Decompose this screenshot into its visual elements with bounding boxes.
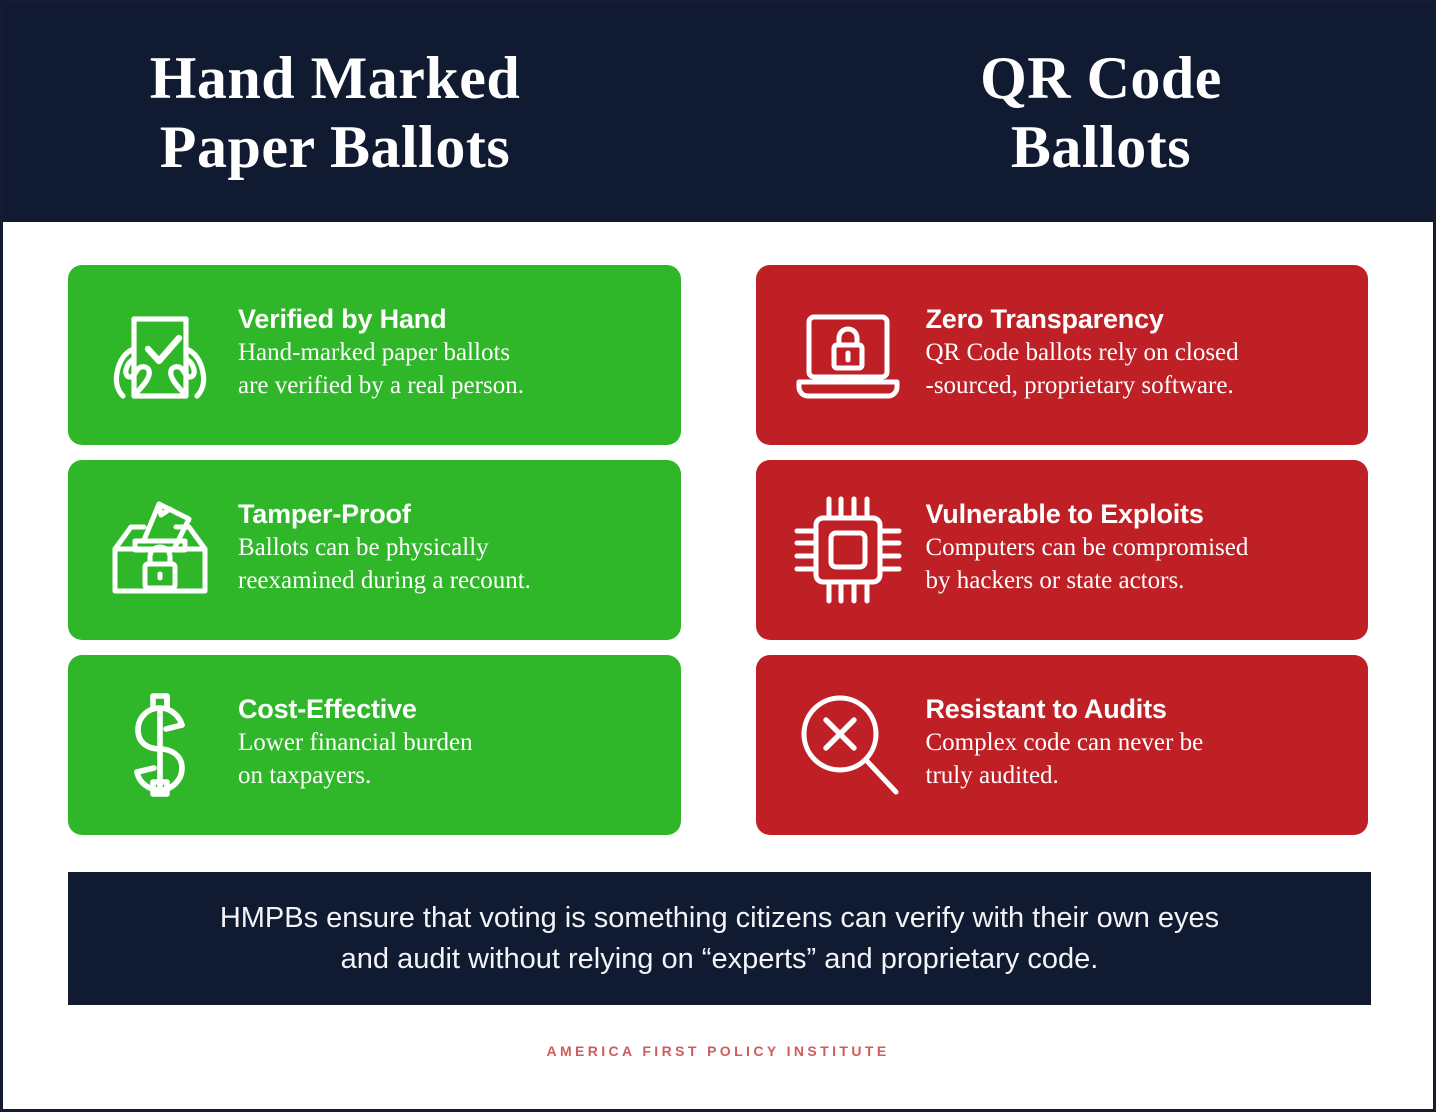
card-description: Hand-marked paper ballots are verified b… [238, 337, 667, 402]
card-description-line1: Complex code can never be [926, 727, 1355, 760]
card-description-line2: on taxpayers. [238, 760, 667, 793]
organization-name: AMERICA FIRST POLICY INSTITUTE [546, 1043, 889, 1059]
dollar-sign-icon [98, 683, 222, 807]
summary-banner-line2: and audit without relying on “experts” a… [220, 939, 1219, 979]
card-text-block: Cost-Effective Lower financial burden on… [222, 694, 667, 797]
card-description-line1: Computers can be compromised [926, 532, 1355, 565]
card-description: Computers can be compromised by hackers … [926, 532, 1355, 597]
magnifier-x-icon [786, 683, 910, 807]
laptop-lock-icon [786, 293, 910, 417]
card-vulnerable-to-exploits: Vulnerable to Exploits Computers can be … [756, 460, 1369, 640]
card-description-line2: reexamined during a recount. [238, 565, 667, 598]
card-title: Zero Transparency [926, 304, 1355, 336]
card-cost-effective: Cost-Effective Lower financial burden on… [68, 655, 681, 835]
header-left-column: Hand Marked Paper Ballots [3, 3, 729, 222]
summary-banner-text: HMPBs ensure that voting is something ci… [220, 898, 1219, 978]
card-text-block: Zero Transparency QR Code ballots rely o… [910, 304, 1355, 407]
hand-marked-paper-ballots-column: Verified by Hand Hand-marked paper ballo… [68, 265, 681, 835]
qr-code-ballots-column: Zero Transparency QR Code ballots rely o… [756, 265, 1369, 835]
card-description-line1: Lower financial burden [238, 727, 667, 760]
card-title: Tamper-Proof [238, 499, 667, 531]
card-text-block: Verified by Hand Hand-marked paper ballo… [222, 304, 667, 407]
card-zero-transparency: Zero Transparency QR Code ballots rely o… [756, 265, 1369, 445]
ballot-box-lock-icon [98, 488, 222, 612]
card-verified-by-hand: Verified by Hand Hand-marked paper ballo… [68, 265, 681, 445]
header-right-title-line2: Ballots [1011, 113, 1191, 181]
footer: AMERICA FIRST POLICY INSTITUTE [3, 1043, 1433, 1061]
card-title: Vulnerable to Exploits [926, 499, 1355, 531]
card-description-line2: by hackers or state actors. [926, 565, 1355, 598]
card-description-line2: are verified by a real person. [238, 370, 667, 403]
card-text-block: Tamper-Proof Ballots can be physically r… [222, 499, 667, 602]
comparison-columns: Verified by Hand Hand-marked paper ballo… [3, 222, 1433, 835]
card-tamper-proof: Tamper-Proof Ballots can be physically r… [68, 460, 681, 640]
card-description-line1: Ballots can be physically [238, 532, 667, 565]
card-title: Cost-Effective [238, 694, 667, 726]
card-description-line2: truly audited. [926, 760, 1355, 793]
header-right-title-line1: QR Code [980, 44, 1222, 112]
card-description: Lower financial burden on taxpayers. [238, 727, 667, 792]
card-description: Ballots can be physically reexamined dur… [238, 532, 667, 597]
ballot-check-hands-icon [98, 293, 222, 417]
header-bar: Hand Marked Paper Ballots QR Code Ballot… [3, 3, 1433, 222]
card-description-line1: Hand-marked paper ballots [238, 337, 667, 370]
header-right-column: QR Code Ballots [729, 3, 1433, 222]
summary-banner-line1: HMPBs ensure that voting is something ci… [220, 898, 1219, 938]
card-title: Resistant to Audits [926, 694, 1355, 726]
header-left-title-line2: Paper Ballots [160, 113, 510, 181]
card-resistant-to-audits: Resistant to Audits Complex code can nev… [756, 655, 1369, 835]
card-description: Complex code can never be truly audited. [926, 727, 1355, 792]
microchip-icon [786, 488, 910, 612]
summary-banner: HMPBs ensure that voting is something ci… [68, 872, 1371, 1005]
card-title: Verified by Hand [238, 304, 667, 336]
card-text-block: Vulnerable to Exploits Computers can be … [910, 499, 1355, 602]
header-left-title-line1: Hand Marked [150, 44, 521, 112]
card-description-line1: QR Code ballots rely on closed [926, 337, 1355, 370]
card-description: QR Code ballots rely on closed -sourced,… [926, 337, 1355, 402]
card-description-line2: -sourced, proprietary software. [926, 370, 1355, 403]
infographic-poster: Hand Marked Paper Ballots QR Code Ballot… [0, 0, 1436, 1112]
card-text-block: Resistant to Audits Complex code can nev… [910, 694, 1355, 797]
